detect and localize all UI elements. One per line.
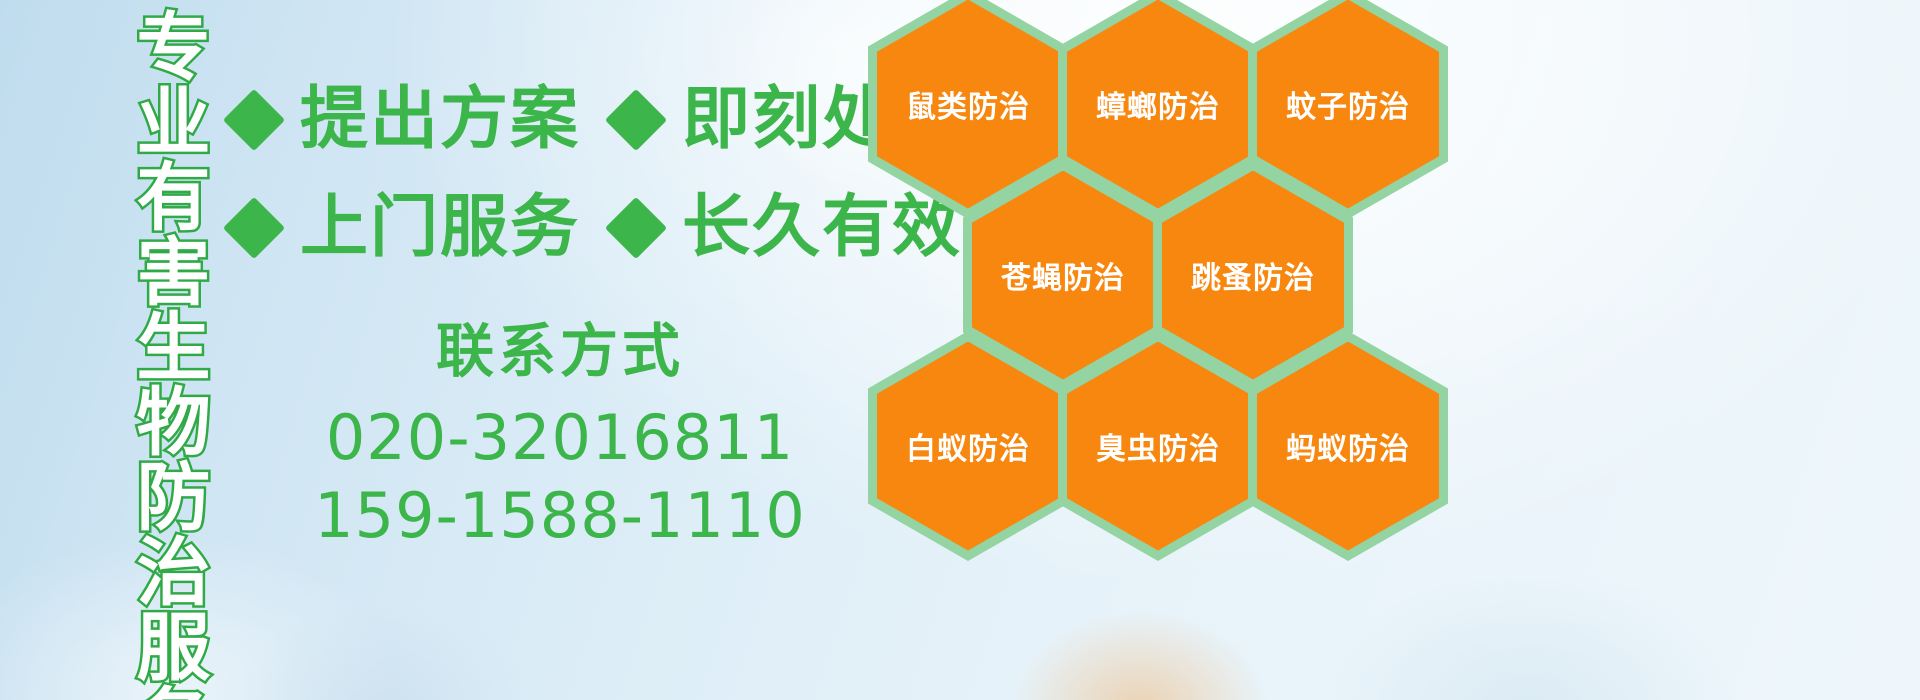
service-label: 蚊子防治 xyxy=(1286,82,1410,126)
feature-label: 提出方案 xyxy=(300,86,580,154)
service-hexagon-grid: 鼠类防治 蟑螂防治 蚊子防治 苍蝇防治 跳蚤防治 白蚁防治 xyxy=(846,0,1466,700)
hex-inner: 苍蝇防治 xyxy=(972,171,1154,380)
diamond-bullet-icon xyxy=(223,89,285,151)
contact-title: 联系方式 xyxy=(300,318,820,385)
service-label: 蚂蚁防治 xyxy=(1286,424,1410,468)
hex-inner: 蟑螂防治 xyxy=(1067,0,1249,209)
hex-inner: 蚂蚁防治 xyxy=(1257,342,1439,551)
background-glow-bottom-left-2 xyxy=(230,600,530,700)
phone-landline[interactable]: 020-32016811 xyxy=(300,399,820,477)
vertical-headline: 专业有害生物防治服务 xyxy=(108,8,204,700)
phone-mobile[interactable]: 159-1588-1110 xyxy=(300,477,820,555)
diamond-bullet-icon xyxy=(605,197,667,259)
hex-inner: 白蚁防治 xyxy=(877,342,1059,551)
feature-label: 上门服务 xyxy=(300,194,580,262)
contact-block: 联系方式 020-32016811 159-1588-1110 xyxy=(300,318,820,555)
pest-control-banner: 专业有害生物防治服务 提出方案 即刻处理 上门服务 长久有效 联系方式 020-… xyxy=(0,0,1920,700)
service-label: 鼠类防治 xyxy=(906,82,1030,126)
service-label: 苍蝇防治 xyxy=(1001,253,1125,297)
feature-item-propose-plan: 提出方案 xyxy=(232,86,580,154)
feature-item-door-to-door-service: 上门服务 xyxy=(232,194,580,262)
hex-inner: 蚊子防治 xyxy=(1257,0,1439,209)
service-label: 蟑螂防治 xyxy=(1096,82,1220,126)
diamond-bullet-icon xyxy=(223,197,285,259)
diamond-bullet-icon xyxy=(605,89,667,151)
service-label: 跳蚤防治 xyxy=(1191,253,1315,297)
hex-inner: 跳蚤防治 xyxy=(1162,171,1344,380)
hex-inner: 臭虫防治 xyxy=(1067,342,1249,551)
hex-inner: 鼠类防治 xyxy=(877,0,1059,209)
service-label: 臭虫防治 xyxy=(1096,424,1220,468)
service-label: 白蚁防治 xyxy=(906,424,1030,468)
